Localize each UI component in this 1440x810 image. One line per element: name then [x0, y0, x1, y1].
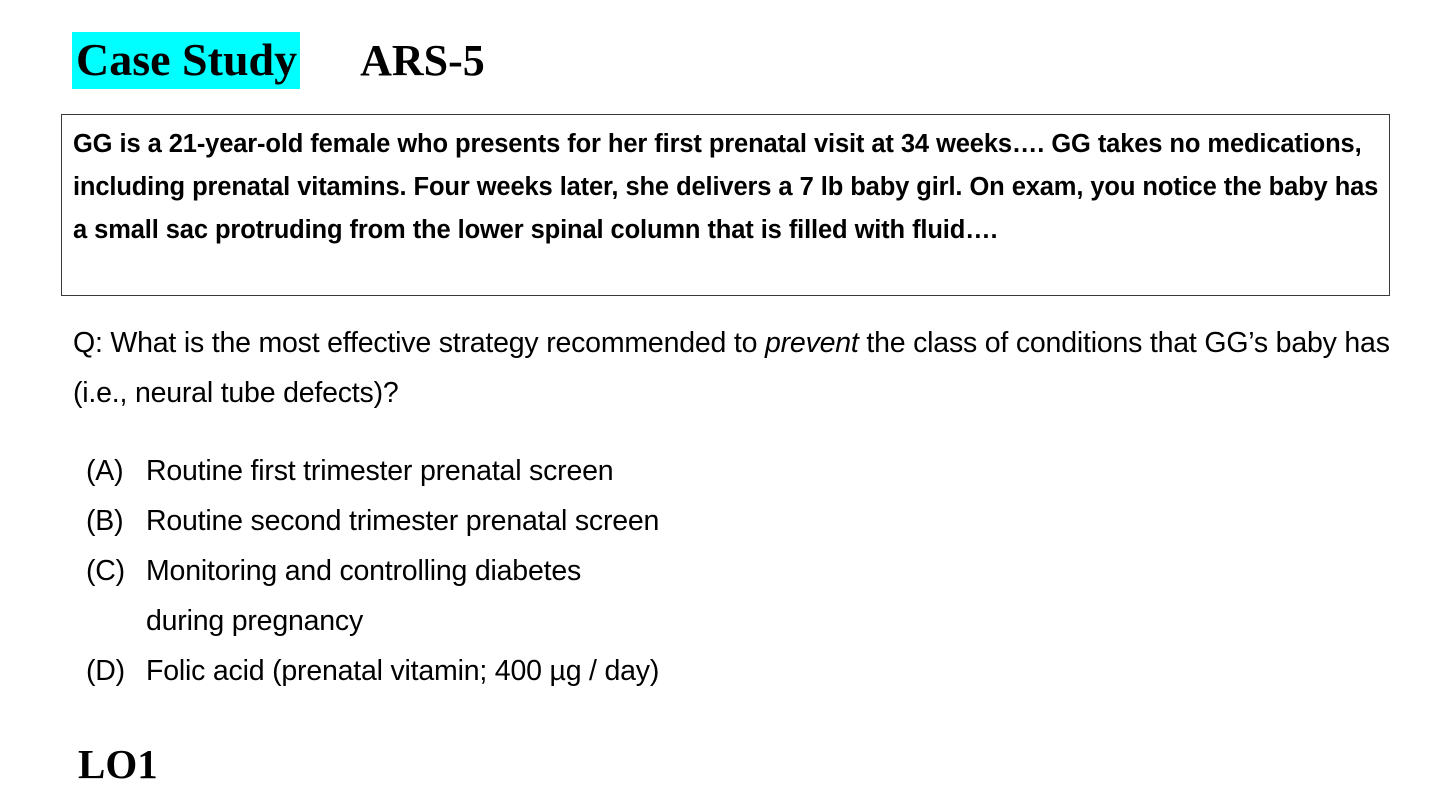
question-prefix: Q: What is the most effective strategy r… [73, 327, 765, 359]
learning-objective-tag: LO1 [78, 744, 158, 785]
answer-option-b-text: Routine second trimester prenatal screen [146, 496, 1186, 546]
question-code: ARS-5 [360, 35, 485, 87]
answer-option-c-text: Monitoring and controlling diabetes duri… [146, 546, 1186, 646]
answer-option-c[interactable]: (C) Monitoring and controlling diabetes … [86, 546, 1186, 646]
answer-option-d[interactable]: (D) Folic acid (prenatal vitamin; 400 µg… [86, 646, 1186, 696]
page-title-highlight: Case Study [72, 32, 300, 89]
answer-option-c-line1: Monitoring and controlling diabetes [146, 555, 581, 587]
case-study-text: GG is a 21-year-old female who presents … [73, 123, 1379, 252]
answer-option-a-text: Routine first trimester prenatal screen [146, 446, 1186, 496]
answer-option-b-label: (B) [86, 496, 146, 546]
answer-options-list: (A) Routine first trimester prenatal scr… [86, 446, 1186, 696]
slide-canvas: Case Study ARS-5 GG is a 21-year-old fem… [0, 0, 1440, 810]
answer-option-d-text: Folic acid (prenatal vitamin; 400 µg / d… [146, 646, 1186, 696]
answer-option-c-label: (C) [86, 546, 146, 596]
answer-option-a-label: (A) [86, 446, 146, 496]
question-emphasis: prevent [765, 327, 859, 359]
question-text: Q: What is the most effective strategy r… [73, 318, 1393, 418]
case-study-box: GG is a 21-year-old female who presents … [61, 114, 1390, 296]
answer-option-c-line2: during pregnancy [146, 596, 1186, 646]
answer-option-b[interactable]: (B) Routine second trimester prenatal sc… [86, 496, 1186, 546]
answer-option-a[interactable]: (A) Routine first trimester prenatal scr… [86, 446, 1186, 496]
slide-title: Case Study ARS-5 [72, 32, 485, 89]
answer-option-d-label: (D) [86, 646, 146, 696]
